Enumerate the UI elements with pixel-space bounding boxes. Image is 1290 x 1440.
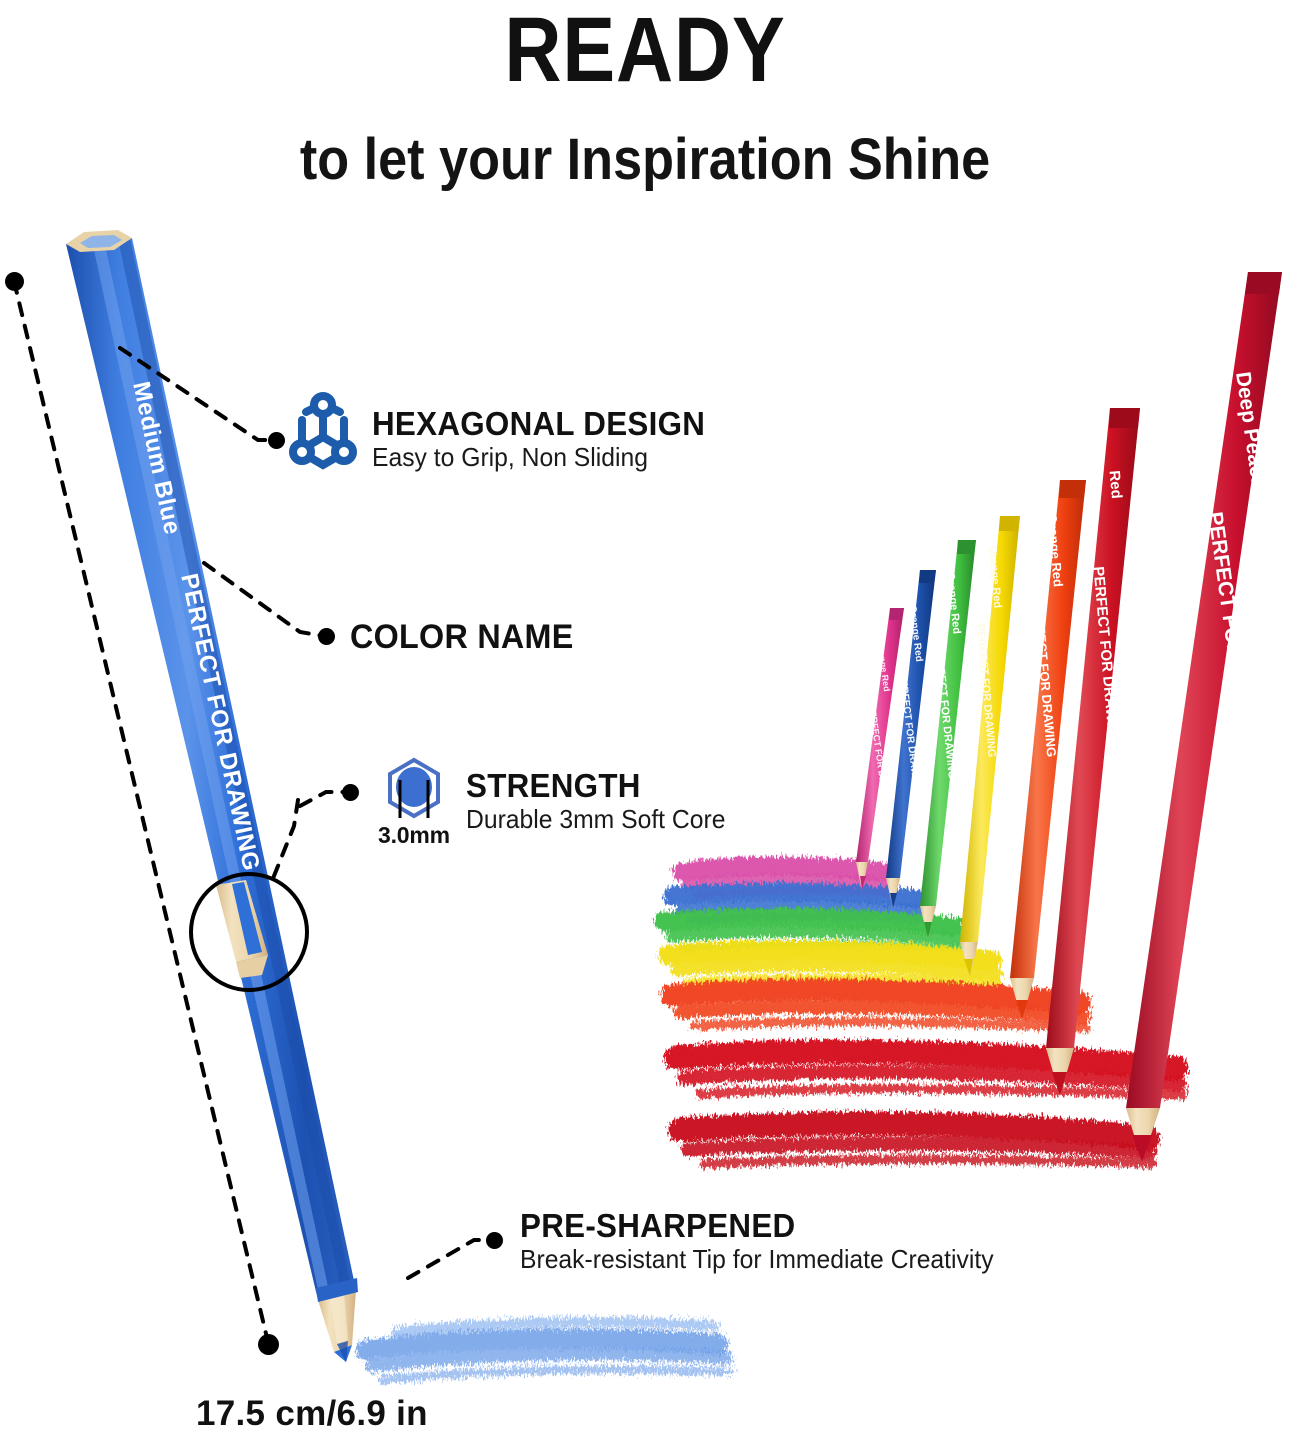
callout-strength: STRENGTH Durable 3mm Soft Core [466, 768, 739, 834]
fan-pencil-1-color-label: Orange Red [875, 640, 892, 692]
callout-title: STRENGTH [466, 768, 725, 804]
fan-pencil-7-color-label: Deep Peach Red [1230, 370, 1277, 536]
leader-cutaway [270, 800, 298, 886]
leader-pre-sharpened [408, 1240, 492, 1278]
hexagon-molecule-icon [293, 396, 353, 465]
fan-pencil-2-imprint: PERFECT FOR DRAWING [897, 673, 923, 795]
callout-subtitle: Durable 3mm Soft Core [466, 804, 725, 834]
fan-pencil-2-color-label: Orange Red [907, 605, 925, 663]
callout-color-name: COLOR NAME [350, 618, 585, 656]
fan-pencil-6 [1046, 408, 1140, 1096]
hero-pencil-color-label: Medium Blue [126, 379, 186, 537]
fan-pencil-7-imprint: PERFECT FOR DRAWING [1202, 510, 1261, 766]
callout-subtitle: Break-resistant Tip for Immediate Creati… [520, 1244, 994, 1274]
hexagon-core-icon [390, 760, 438, 818]
infographic-canvas: READY to let your Inspiration Shine [0, 0, 1290, 1440]
fan-pencil-4-imprint: PERFECT FOR DRAWING [974, 623, 998, 757]
fan-pencil-3-imprint: PERFECT FOR DRAWING [932, 645, 958, 779]
hero-stroke [366, 1322, 730, 1380]
leader-dot-hexagonal [268, 432, 285, 449]
core-measurement-label: 3.0mm [378, 822, 450, 849]
page-title: READY [90, 2, 1199, 98]
callout-hexagonal-design: HEXAGONAL DESIGN Easy to Grip, Non Slidi… [372, 406, 723, 472]
leader-strength [300, 792, 348, 806]
leader-dot-length-top [5, 272, 24, 291]
leader-color-name [204, 563, 324, 636]
leader-dot-pre-sharpened [486, 1232, 503, 1249]
leader-dot-length-bottom [258, 1334, 279, 1355]
hero-pencil [66, 230, 358, 1362]
callout-subtitle: Easy to Grip, Non Sliding [372, 442, 705, 472]
fan-pencil-5-imprint: PERFECT FOR DRAWING [1031, 599, 1060, 758]
fan-pencil-6-imprint: PERFECT FOR DRAWING [1090, 566, 1123, 749]
page-subtitle: to let your Inspiration Shine [65, 128, 1226, 192]
hero-pencil-imprint: PERFECT FOR DRAWING [174, 571, 264, 874]
callout-pre-sharpened: PRE-SHARPENED Break-resistant Tip for Im… [520, 1208, 1019, 1274]
fan-pencil-1-imprint: PERFECT FOR DRAWING [867, 704, 892, 814]
fan-pencil-3-color-label: Orange Red [944, 571, 962, 634]
leader-dot-strength [342, 784, 359, 801]
length-dimension-label: 17.5 cm/6.9 in [196, 1394, 428, 1434]
callout-title: PRE-SHARPENED [520, 1208, 994, 1244]
leader-dot-color-name [318, 628, 335, 645]
fan-pencil-4-color-label: Orange Red [986, 545, 1003, 608]
callout-title: HEXAGONAL DESIGN [372, 406, 705, 442]
fan-stroke-group [664, 866, 1182, 1164]
fan-pencil-5-color-label: Orange Red [1045, 513, 1066, 588]
zoom-highlight-circle [191, 874, 307, 990]
fan-pencil-6-color-label: Red [1106, 470, 1125, 500]
callout-title: COLOR NAME [350, 618, 574, 656]
